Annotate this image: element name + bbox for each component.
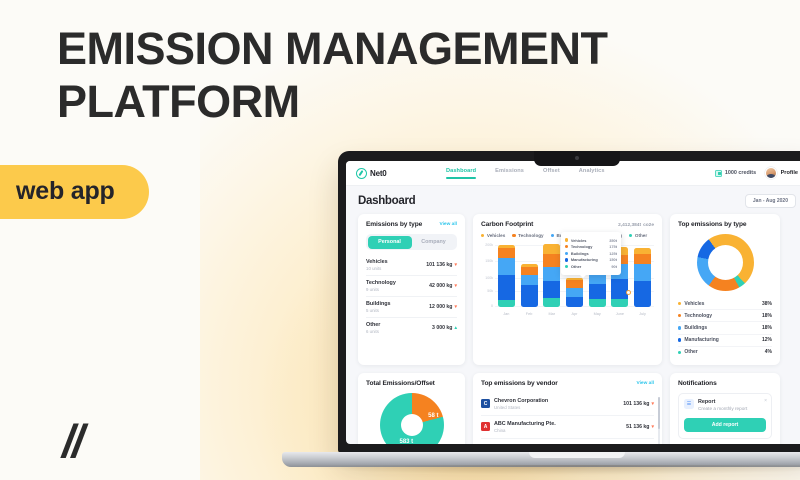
laptop-mockup: Net0 Dashboard Emissions Offset Analytic… (338, 151, 800, 453)
emission-units: 6 units (366, 329, 380, 334)
emission-name: Other (366, 322, 380, 328)
toggle-company[interactable]: Company (412, 236, 456, 249)
table-row[interactable]: C Chevron CorporationUnited States 101 1… (481, 393, 654, 416)
notification-item-report: × ☰ Report Create a monthly report Add r… (678, 393, 772, 439)
close-icon[interactable]: × (764, 398, 767, 404)
chart-tooltip: Vehicles350t Technology175t Buildings125… (561, 232, 621, 275)
vendor-name: ABC Manufacturing Pte. (494, 421, 556, 427)
trend-icon: ▾ (651, 401, 654, 407)
date-range-picker[interactable]: Jan - Aug 2020 (745, 194, 796, 208)
tooltip-dot (565, 258, 568, 261)
emission-value: 101 136 kg▾ (426, 262, 457, 268)
view-all-link[interactable]: View all (636, 381, 654, 386)
card-header: Top emissions by vendor View all (481, 380, 654, 387)
x-tick: Feb (521, 312, 538, 316)
bar-feb[interactable] (521, 242, 538, 307)
tooltip-row: Other90t (565, 264, 617, 269)
hero-title-line-2: PLATFORM (57, 76, 300, 127)
legend-dot (481, 234, 484, 237)
nav-item-emissions[interactable]: Emissions (495, 168, 524, 179)
notification-title: Report (698, 399, 747, 405)
legend-dot (678, 326, 681, 329)
emission-name: Buildings (366, 301, 391, 307)
vendor-country: United States (494, 405, 548, 410)
nav-links: Dashboard Emissions Offset Analytics (430, 168, 715, 179)
tooltip-dot (565, 245, 568, 248)
screenshot-stage: EMISSION MANAGEMENT PLATFORM web app // … (0, 0, 800, 480)
card-total-emissions-offset: Total Emissions/Offset 58 t 583 t Offset… (358, 373, 465, 444)
y-tick: 150k (485, 259, 493, 263)
card-top-emissions-by-vendor: Top emissions by vendor View all C Chevr… (473, 373, 662, 444)
legend-row: Other4% (678, 347, 772, 358)
chart-hover-point (626, 290, 631, 295)
bar-july[interactable] (634, 242, 651, 307)
legend-item-technology: Technology (512, 233, 543, 238)
tooltip-dot (565, 265, 568, 268)
profile-menu[interactable]: Profile (765, 167, 798, 179)
legend-dot (678, 351, 681, 354)
emission-value: 3 000 kg▴ (432, 325, 457, 331)
app-screen: Net0 Dashboard Emissions Offset Analytic… (346, 161, 800, 444)
trend-icon: ▾ (454, 304, 457, 310)
bar-mar[interactable] (543, 242, 560, 307)
x-tick: June (611, 312, 628, 316)
laptop-lid: Net0 Dashboard Emissions Offset Analytic… (338, 151, 800, 453)
x-tick: Jan (498, 312, 515, 316)
emission-list: Vehicles 10 units 101 136 kg▾ Technology… (366, 255, 457, 338)
legend-item-vehicles: Vehicles (481, 233, 505, 238)
bar-jan[interactable] (498, 242, 515, 307)
emission-name: Vehicles (366, 259, 388, 265)
emission-value-text: 42 000 kg (429, 283, 452, 289)
nav-item-dashboard[interactable]: Dashboard (446, 168, 476, 179)
x-axis: Jan Feb Mar Apr May June July (495, 312, 654, 316)
card-header: Emissions by type View all (366, 221, 457, 228)
table-row[interactable]: A ABC Manufacturing Pte.China 51 136 kg▾ (481, 416, 654, 439)
hero-title: EMISSION MANAGEMENT PLATFORM (57, 22, 697, 128)
card-header: Notifications (678, 380, 772, 387)
card-header: Carbon Footprint 2,412,384tco2e (481, 221, 654, 228)
add-report-button[interactable]: Add report (684, 418, 766, 432)
document-icon: ☰ (684, 399, 694, 409)
pie-chart: 58 t 583 t (380, 393, 444, 444)
avatar (765, 167, 777, 179)
pie-slice-total-label: 583 t (400, 439, 414, 444)
list-item[interactable]: Technology 9 units 42 000 kg▾ (366, 276, 457, 297)
legend-dot (551, 234, 554, 237)
x-tick: Mar (543, 312, 560, 316)
emission-value: 42 000 kg▾ (429, 283, 457, 289)
donut-legend: Vehicles38% Technology18% Buildings18% M… (678, 298, 772, 358)
brand-name: Net0 (370, 169, 387, 178)
y-tick: 0 (491, 304, 493, 308)
card-title: Notifications (678, 380, 717, 387)
card-title: Top emissions by vendor (481, 380, 558, 387)
web-app-badge: web app (0, 165, 149, 219)
emission-value-text: 3 000 kg (432, 325, 452, 331)
tooltip-dot (565, 238, 568, 241)
profile-label: Profile (781, 170, 798, 176)
tooltip-row: Vehicles350t (565, 238, 617, 243)
emission-units: 9 units (366, 287, 396, 292)
card-title: Total Emissions/Offset (366, 380, 435, 387)
brand-logo[interactable]: Net0 (356, 168, 430, 179)
legend-item-other: Other (629, 233, 647, 238)
nav-right: 1000 credits Profile (715, 167, 798, 179)
legend-row: Vehicles38% (678, 298, 772, 310)
vendor-scrollbar[interactable] (658, 397, 660, 444)
card-header: Top emissions by type (678, 221, 772, 228)
donut-chart (697, 234, 754, 291)
credits-icon (715, 170, 722, 177)
tooltip-row: Manufacturing150t (565, 257, 617, 262)
scope-toggle: Personal Company (366, 234, 457, 250)
vendor-logo-icon: A (481, 422, 490, 431)
legend-dot (629, 234, 632, 237)
view-all-link[interactable]: View all (439, 222, 457, 227)
list-item[interactable]: Other 6 units 3 000 kg▴ (366, 318, 457, 338)
nav-item-analytics[interactable]: Analytics (579, 168, 605, 179)
donut-chart-wrap (678, 234, 772, 291)
hero-title-line-1: EMISSION MANAGEMENT (57, 23, 608, 74)
vendor-country: China (494, 428, 556, 433)
trend-icon: ▾ (454, 262, 457, 268)
trend-icon: ▾ (651, 424, 654, 430)
trend-icon: ▾ (454, 283, 457, 289)
carbon-total: 2,412,384tco2e (616, 221, 654, 228)
trend-icon: ▴ (454, 325, 457, 331)
table-row[interactable]: c ConocoPhillipsUnited States 101 136 kg… (481, 439, 654, 444)
legend-dot (678, 302, 681, 305)
pie-slice-offset-label: 58 t (428, 413, 438, 419)
carbon-total-value: 2,412,384t (618, 223, 641, 228)
card-carbon-footprint: Carbon Footprint 2,412,384tco2e Vehicles… (473, 214, 662, 365)
tooltip-row: Technology175t (565, 244, 617, 249)
carbon-total-unit: co2e (643, 223, 654, 228)
pie-chart-wrap: 58 t 583 t (366, 393, 457, 444)
card-top-emissions-by-type: Top emissions by type Vehicles38% Techno… (670, 214, 780, 365)
card-title: Top emissions by type (678, 221, 747, 228)
legend-dot (512, 234, 515, 237)
nav-item-offset[interactable]: Offset (543, 168, 560, 179)
dashboard-grid-row-1: Emissions by type View all Personal Comp… (346, 214, 800, 365)
toggle-personal[interactable]: Personal (368, 236, 412, 249)
vendor-value: 101 136 kg (623, 401, 649, 407)
tooltip-dot (565, 252, 568, 255)
double-slash-icon: // (62, 418, 82, 464)
card-title: Carbon Footprint (481, 221, 533, 228)
x-tick: July (634, 312, 651, 316)
legend-row: Technology18% (678, 310, 772, 322)
card-emissions-by-type: Emissions by type View all Personal Comp… (358, 214, 465, 365)
vendor-value: 51 136 kg (626, 424, 649, 430)
vendor-list: C Chevron CorporationUnited States 101 1… (481, 393, 654, 444)
vendor-name: Chevron Corporation (494, 398, 548, 404)
legend-dot (678, 314, 681, 317)
emission-units: 10 units (366, 266, 388, 271)
laptop-shadow (282, 465, 800, 475)
credits-indicator[interactable]: 1000 credits (715, 170, 756, 177)
card-title: Emissions by type (366, 221, 422, 228)
page-title: Dashboard (358, 195, 415, 207)
vendor-logo-icon: C (481, 399, 490, 408)
x-tick: May (589, 312, 606, 316)
legend-row: Manufacturing12% (678, 335, 772, 347)
emission-value-text: 12 000 kg (429, 304, 452, 310)
card-header: Total Emissions/Offset (366, 380, 457, 387)
legend-row: Buildings18% (678, 322, 772, 334)
emission-name: Technology (366, 280, 396, 286)
list-item[interactable]: Vehicles 10 units 101 136 kg▾ (366, 255, 457, 276)
x-tick: Apr (566, 312, 583, 316)
hero-text: EMISSION MANAGEMENT PLATFORM (57, 22, 697, 128)
card-notifications: Notifications × ☰ Report Create a monthl… (670, 373, 780, 444)
emission-value-text: 101 136 kg (426, 262, 452, 268)
y-tick: 50k (487, 289, 493, 293)
credits-label: 1000 credits (725, 170, 756, 176)
page-bar: Dashboard Jan - Aug 2020 (346, 186, 800, 214)
y-axis: 200k 150k 100k 50k 0 (481, 242, 495, 316)
emission-value: 12 000 kg▾ (429, 304, 457, 310)
tooltip-row: Buildings125t (565, 251, 617, 256)
webcam-notch (534, 151, 620, 166)
notification-desc: Create a monthly report (698, 406, 747, 413)
net0-logo-icon (356, 168, 367, 179)
y-tick: 100k (485, 276, 493, 280)
list-item[interactable]: Buildings 5 units 12 000 kg▾ (366, 297, 457, 318)
dashboard-grid-row-2: Total Emissions/Offset 58 t 583 t Offset… (346, 373, 800, 444)
emission-units: 5 units (366, 308, 391, 313)
legend-dot (678, 338, 681, 341)
y-tick: 200k (485, 243, 493, 247)
